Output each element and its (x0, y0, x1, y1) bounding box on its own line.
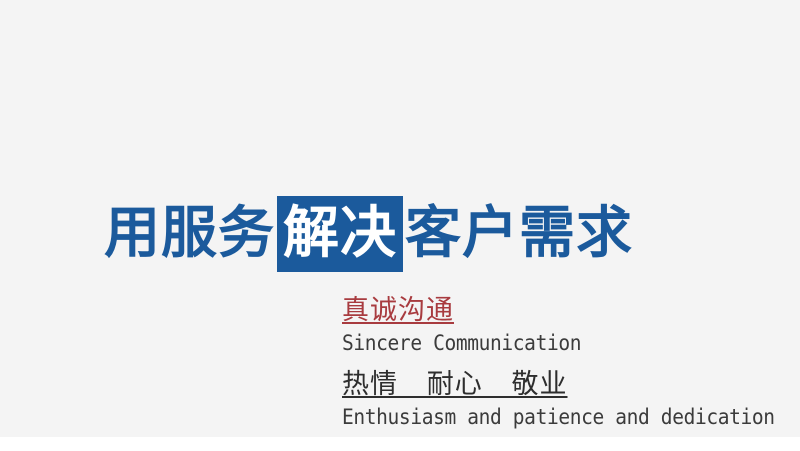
page-title: 用服务 解决 客户需求 (104, 196, 633, 272)
subtitle-line-2-english: Enthusiasm and patience and dedication (342, 406, 762, 429)
subtitle-line-2-chinese: 热情 耐心 敬业 (342, 371, 762, 399)
subtitle-chinese-sincere: 真诚沟通 (342, 297, 454, 325)
headline-segment-highlighted: 解决 (277, 196, 403, 272)
subtitle-block: 真诚沟通 Sincere Communication 热情 耐心 敬业 Enth… (342, 297, 762, 429)
subtitle-chinese-enthusiasm: 热情 耐心 敬业 (342, 371, 568, 399)
headline-segment-1: 用服务 (104, 196, 275, 272)
subtitle-english-sincere: Sincere Communication (342, 332, 581, 354)
subtitle-line-1-english: Sincere Communication (342, 332, 762, 355)
headline-segment-3: 客户需求 (405, 196, 633, 272)
subtitle-english-enthusiasm: Enthusiasm and patience and dedication (342, 406, 775, 428)
subtitle-line-1-chinese: 真诚沟通 (342, 297, 762, 325)
bottom-strip (0, 437, 800, 451)
slide-canvas: 用服务 解决 客户需求 真诚沟通 Sincere Communication 热… (0, 0, 800, 437)
